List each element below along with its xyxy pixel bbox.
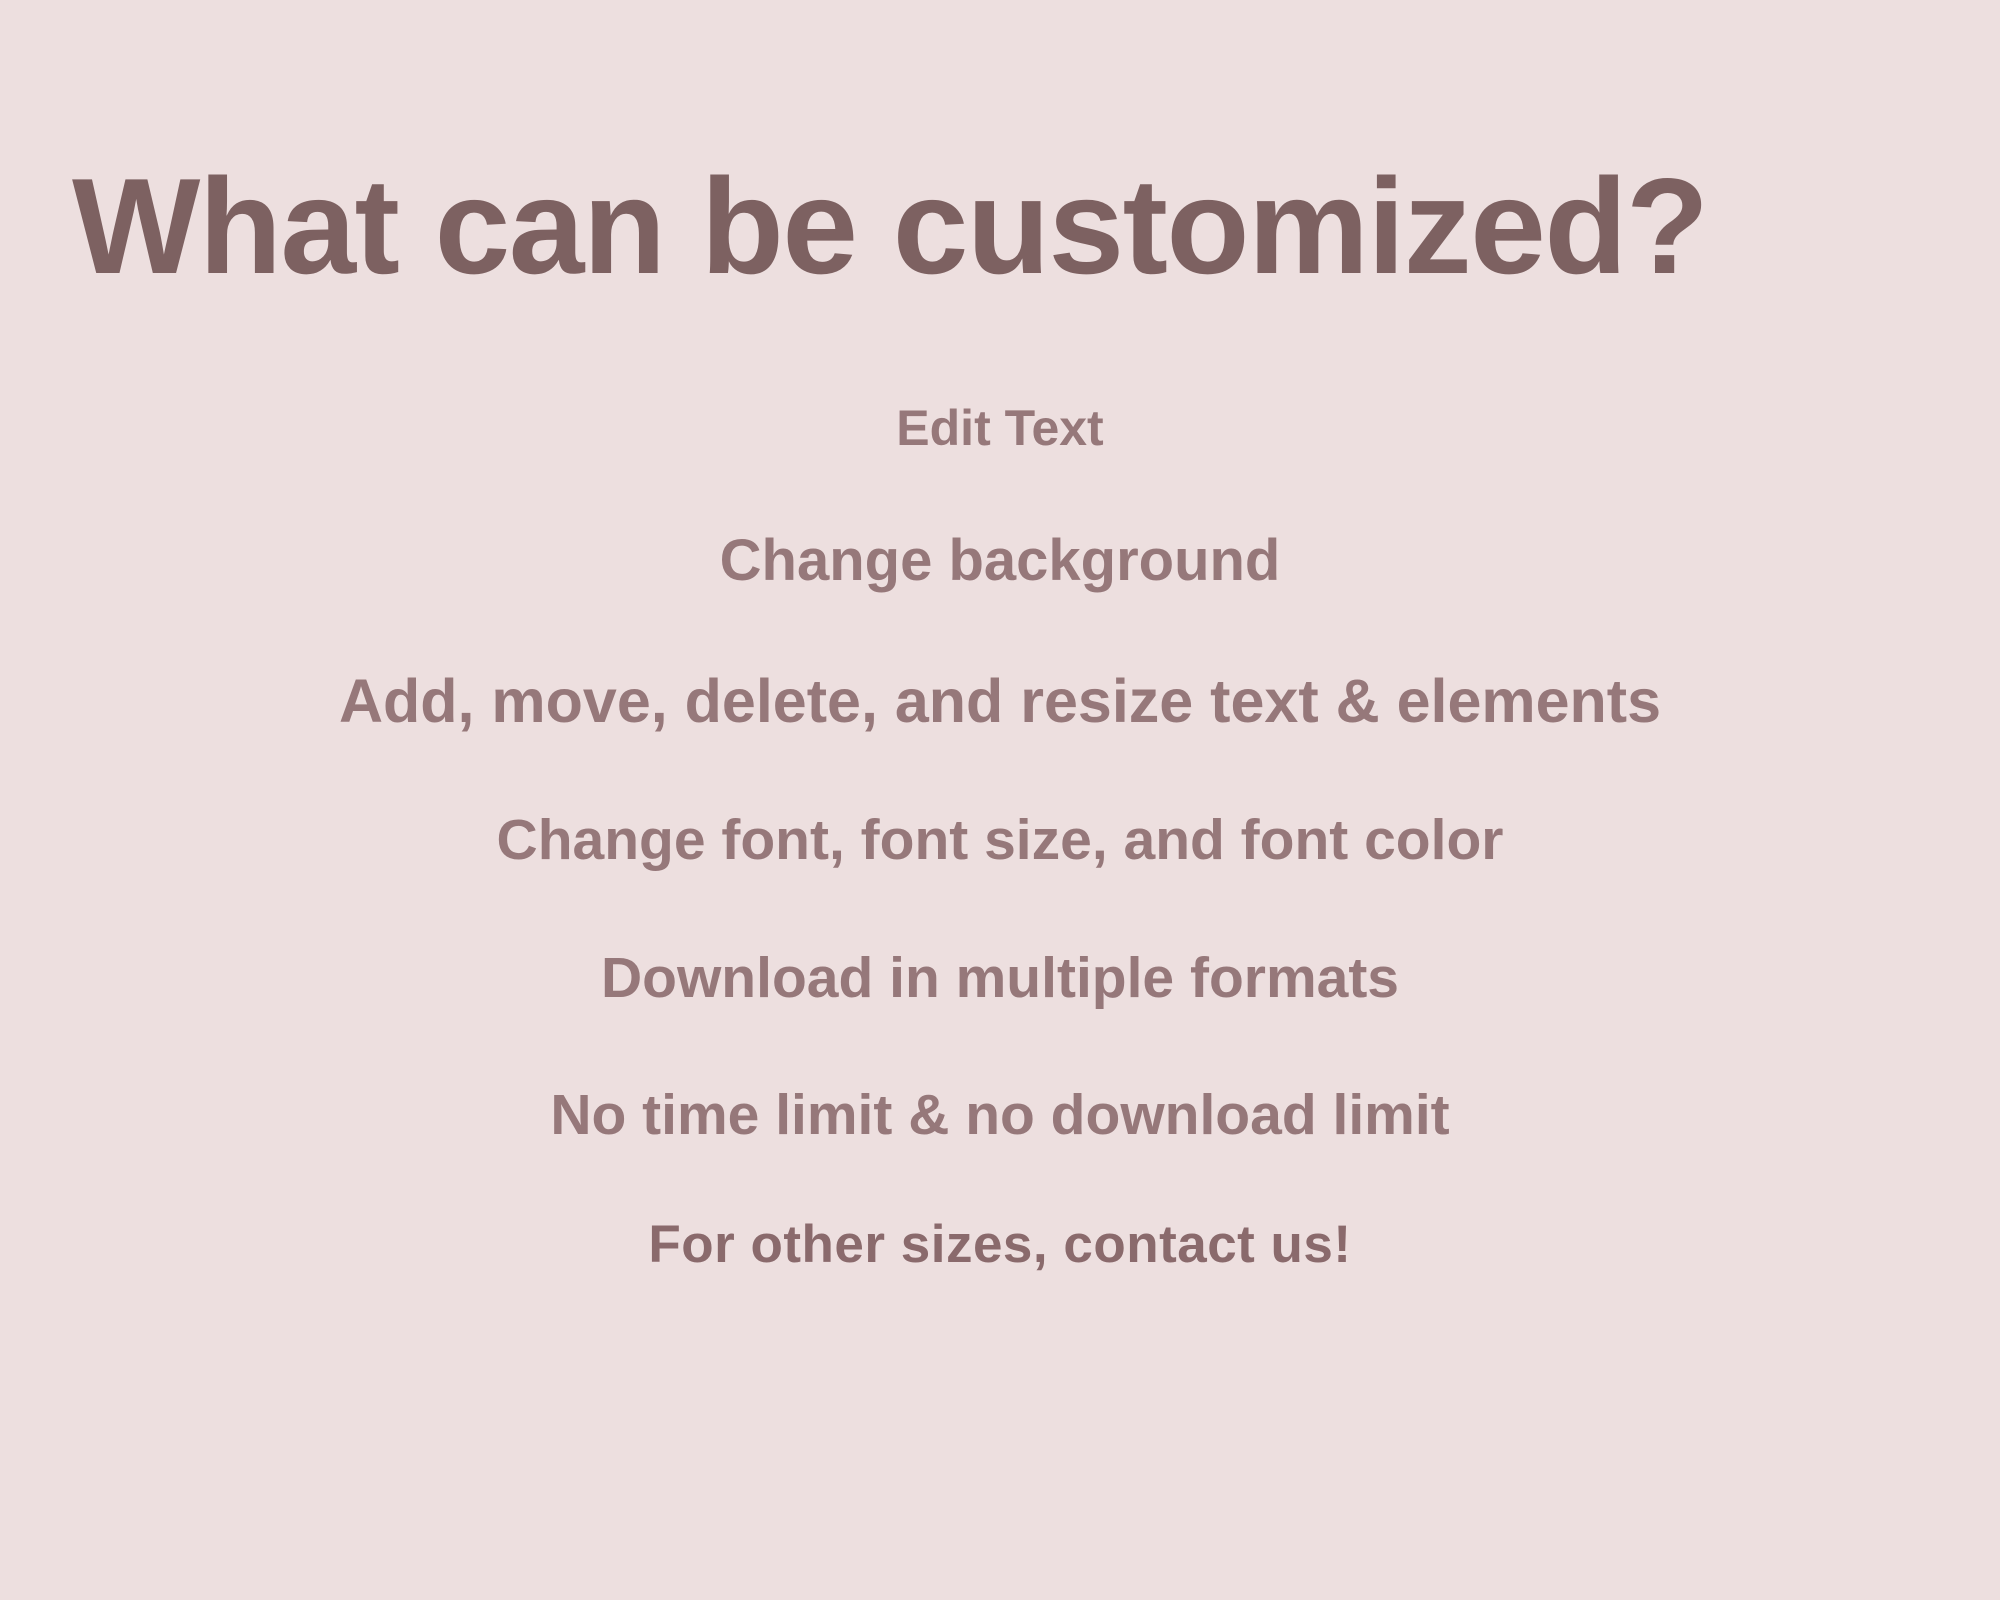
slide-canvas: What can be customized? Edit Text Change… bbox=[0, 0, 2000, 1600]
feature-list-item-no-limits: No time limit & no download limit bbox=[0, 1083, 2000, 1149]
feature-list-item-contact-us: For other sizes, contact us! bbox=[0, 1215, 2000, 1276]
feature-list-item-download-formats: Download in multiple formats bbox=[0, 946, 2000, 1012]
feature-list: Edit Text Change background Add, move, d… bbox=[0, 400, 2000, 1276]
page-title: What can be customized? bbox=[72, 158, 1932, 294]
feature-list-item-edit-text: Edit Text bbox=[0, 400, 2000, 458]
feature-list-item-change-background: Change background bbox=[0, 528, 2000, 595]
feature-list-item-change-font: Change font, font size, and font color bbox=[0, 808, 2000, 874]
feature-list-item-add-move-delete-resize: Add, move, delete, and resize text & ele… bbox=[0, 666, 2000, 736]
